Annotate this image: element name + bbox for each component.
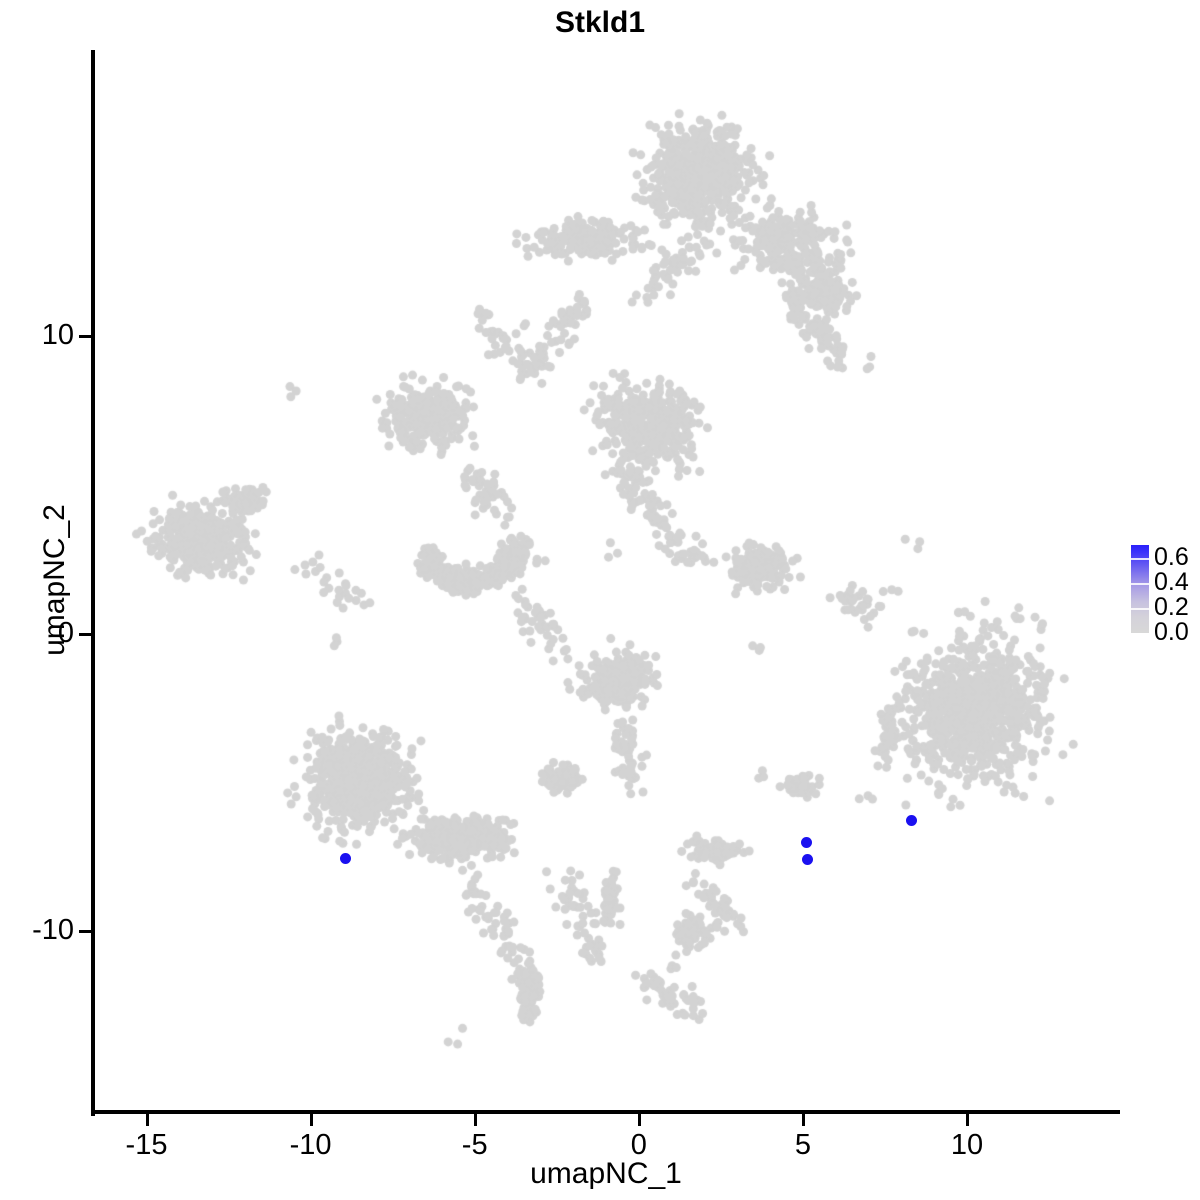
x-tick-mark: [966, 1114, 969, 1126]
legend-tick-label: 0.0: [1154, 619, 1189, 645]
legend-tick-mark: [1131, 633, 1149, 635]
plot-panel: [94, 50, 1118, 1113]
legend-tick-label: 0.4: [1154, 569, 1189, 595]
x-tick-mark: [474, 1114, 477, 1126]
legend-tick-label: 0.2: [1154, 594, 1189, 620]
x-axis-label: umapNC_1: [94, 1157, 1118, 1191]
umap-feature-plot: Stkld1 -15-10-50510 -10010 umapNC_1 umap…: [0, 0, 1200, 1200]
x-tick-mark: [802, 1114, 805, 1126]
legend-tick-mark: [1131, 558, 1149, 560]
color-legend: 0.60.40.20.0: [1128, 536, 1200, 646]
y-tick-mark: [79, 930, 91, 933]
x-tick-mark: [310, 1114, 313, 1126]
page-title: Stkld1: [0, 6, 1200, 40]
legend-tick-mark: [1131, 583, 1149, 585]
legend-tick-mark: [1131, 608, 1149, 610]
y-axis-label: umapNC_2: [38, 230, 72, 930]
legend-tick-label: 0.6: [1154, 544, 1189, 570]
scatter-points-layer: [94, 50, 1118, 1113]
y-tick-mark: [79, 335, 91, 338]
x-tick-mark: [638, 1114, 641, 1126]
y-tick-mark: [79, 633, 91, 636]
x-tick-mark: [146, 1114, 149, 1126]
